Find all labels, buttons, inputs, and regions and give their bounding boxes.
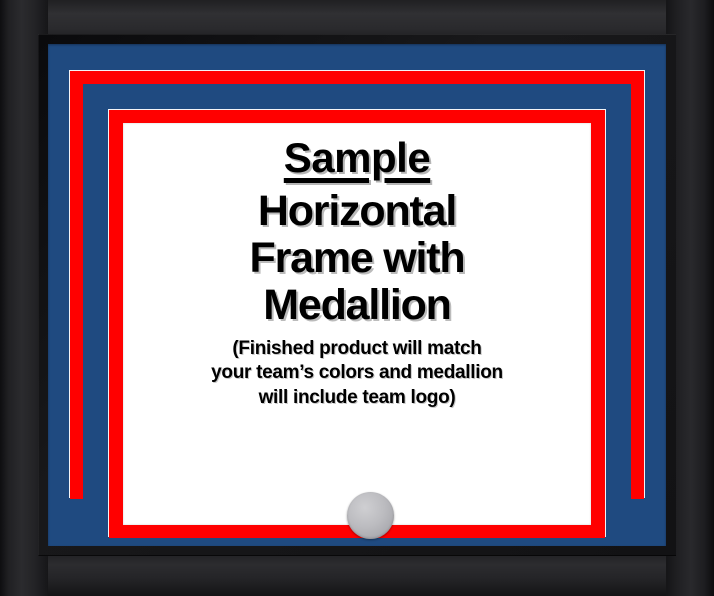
placard-note-line-3: will include team logo) [123,386,591,410]
placard-title: Sample [123,137,591,179]
placard-headline-line-2: Frame with [123,237,591,280]
framed-product-preview: Sample Horizontal Frame with Medallion (… [0,0,714,596]
placard-headline-line-3: Medallion [123,284,591,327]
placard-note: (Finished product will match your team’s… [123,337,591,410]
placard-headline-line-1: Horizontal [123,190,591,233]
medallion-icon: medallion-disc [347,492,394,539]
placard-text-block: Sample Horizontal Frame with Medallion (… [123,137,591,410]
placard-note-line-2: your team’s colors and medallion [123,361,591,385]
photo-opening: Sample Horizontal Frame with Medallion (… [123,123,591,525]
placard-note-line-1: (Finished product will match [123,337,591,361]
